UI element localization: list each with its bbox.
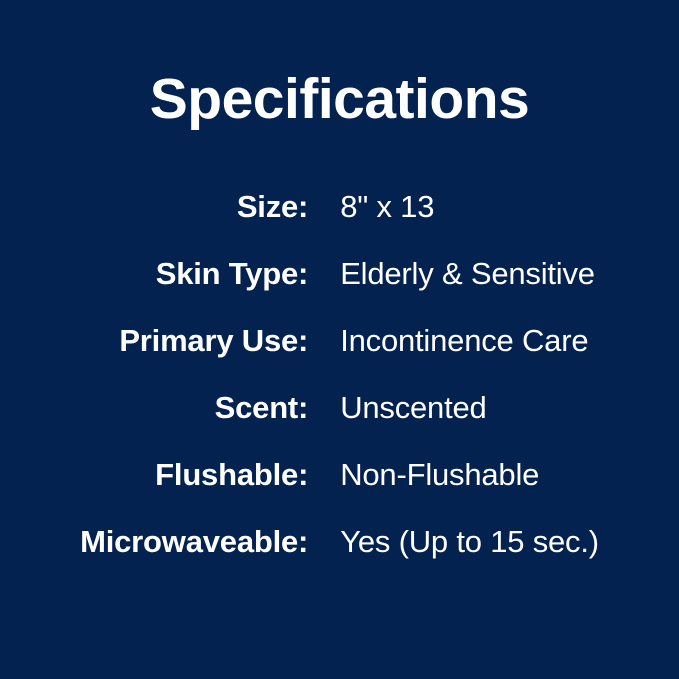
spec-value-size: 8" x 13 <box>308 173 599 240</box>
spec-value-skin-type: Elderly & Sensitive <box>308 240 599 307</box>
spec-value-primary-use: Incontinence Care <box>308 307 599 374</box>
spec-label-scent: Scent: <box>80 374 308 441</box>
spec-value-microwaveable: Yes (Up to 15 sec.) <box>308 508 599 575</box>
spec-label-flushable: Flushable: <box>80 441 308 508</box>
specifications-card: Specifications Size: 8" x 13 Skin Type: … <box>0 0 679 679</box>
table-row: Size: 8" x 13 <box>80 173 599 240</box>
table-row: Microwaveable: Yes (Up to 15 sec.) <box>80 508 599 575</box>
table-row: Scent: Unscented <box>80 374 599 441</box>
specifications-table: Size: 8" x 13 Skin Type: Elderly & Sensi… <box>80 173 599 575</box>
page-title: Specifications <box>150 0 529 128</box>
spec-label-skin-type: Skin Type: <box>80 240 308 307</box>
table-row: Primary Use: Incontinence Care <box>80 307 599 374</box>
spec-label-primary-use: Primary Use: <box>80 307 308 374</box>
spec-label-size: Size: <box>80 173 308 240</box>
specifications-table-body: Size: 8" x 13 Skin Type: Elderly & Sensi… <box>80 173 599 575</box>
spec-label-microwaveable: Microwaveable: <box>80 508 308 575</box>
spec-value-scent: Unscented <box>308 374 599 441</box>
table-row: Flushable: Non-Flushable <box>80 441 599 508</box>
table-row: Skin Type: Elderly & Sensitive <box>80 240 599 307</box>
spec-value-flushable: Non-Flushable <box>308 441 599 508</box>
